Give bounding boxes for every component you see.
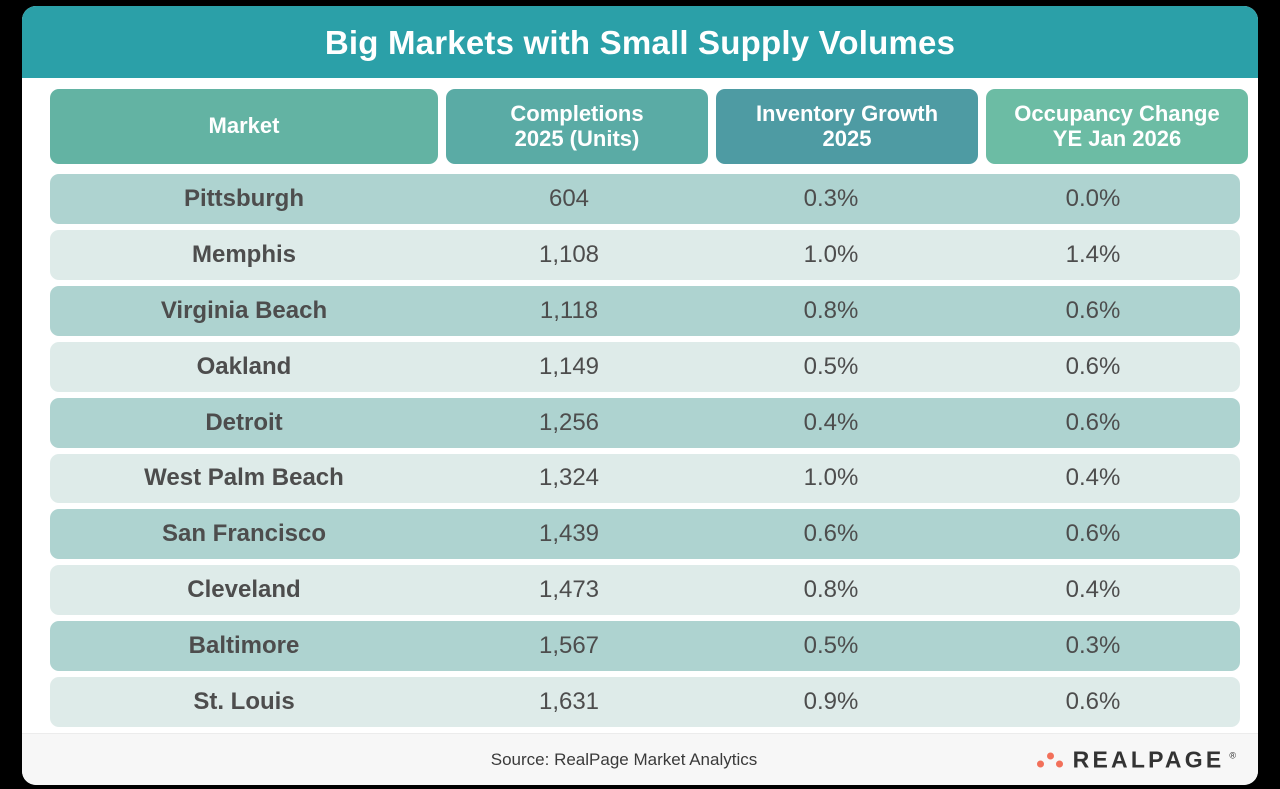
cell-occupancy-change: 0.6% <box>962 342 1224 392</box>
cell-inventory-growth: 1.0% <box>700 230 962 280</box>
cell-occupancy-change: 1.4% <box>962 230 1224 280</box>
cell-completions: 1,149 <box>438 342 700 392</box>
source-attribution: Source: RealPage Market Analytics <box>491 750 757 770</box>
cell-inventory-growth: 0.3% <box>700 174 962 224</box>
registered-trademark-icon: ® <box>1229 750 1236 760</box>
cell-occupancy-change: 0.4% <box>962 565 1224 615</box>
cell-market: St. Louis <box>50 677 438 727</box>
data-table: Market Completions2025 (Units) Inventory… <box>22 78 1258 733</box>
column-header-occupancy-change: Occupancy ChangeYE Jan 2026 <box>986 89 1248 164</box>
cell-completions: 1,118 <box>438 286 700 336</box>
cell-inventory-growth: 0.9% <box>700 677 962 727</box>
cell-market: Cleveland <box>50 565 438 615</box>
realpage-logo: REALPAGE ® <box>1036 746 1236 773</box>
cell-occupancy-change: 0.3% <box>962 621 1224 671</box>
cell-completions: 1,108 <box>438 230 700 280</box>
cell-occupancy-change: 0.6% <box>962 286 1224 336</box>
table-row: Baltimore 1,567 0.5% 0.3% <box>50 621 1240 671</box>
cell-occupancy-change: 0.6% <box>962 398 1224 448</box>
page-title: Big Markets with Small Supply Volumes <box>325 26 955 59</box>
cell-market: Pittsburgh <box>50 174 438 224</box>
cell-completions: 1,473 <box>438 565 700 615</box>
column-header-completions: Completions2025 (Units) <box>446 89 708 164</box>
cell-inventory-growth: 0.8% <box>700 286 962 336</box>
cell-completions: 1,324 <box>438 454 700 504</box>
header-line-2: 2025 (Units) <box>515 126 640 151</box>
cell-completions: 1,439 <box>438 509 700 559</box>
table-row: West Palm Beach 1,324 1.0% 0.4% <box>50 454 1240 504</box>
cell-occupancy-change: 0.6% <box>962 677 1224 727</box>
cell-completions: 1,631 <box>438 677 700 727</box>
cell-inventory-growth: 0.4% <box>700 398 962 448</box>
header-line-1: Occupancy Change <box>1014 101 1219 126</box>
column-header-market: Market <box>50 89 438 164</box>
cell-market: Oakland <box>50 342 438 392</box>
header-line-2: YE Jan 2026 <box>1053 126 1181 151</box>
footer: Source: RealPage Market Analytics REALPA… <box>22 733 1258 785</box>
cell-market: Memphis <box>50 230 438 280</box>
cell-inventory-growth: 1.0% <box>700 454 962 504</box>
cell-inventory-growth: 0.6% <box>700 509 962 559</box>
table-row: Cleveland 1,473 0.8% 0.4% <box>50 565 1240 615</box>
cell-market: Virginia Beach <box>50 286 438 336</box>
cell-completions: 1,567 <box>438 621 700 671</box>
column-header-completions-label: Completions2025 (Units) <box>510 102 643 151</box>
realpage-dots-icon <box>1036 750 1066 770</box>
table-row: San Francisco 1,439 0.6% 0.6% <box>50 509 1240 559</box>
column-header-inventory-growth: Inventory Growth2025 <box>716 89 978 164</box>
column-header-occupancy-change-label: Occupancy ChangeYE Jan 2026 <box>1014 102 1219 151</box>
cell-occupancy-change: 0.4% <box>962 454 1224 504</box>
table-row: Virginia Beach 1,118 0.8% 0.6% <box>50 286 1240 336</box>
cell-market: West Palm Beach <box>50 454 438 504</box>
header-line-2: 2025 <box>823 126 872 151</box>
cell-inventory-growth: 0.5% <box>700 342 962 392</box>
column-header-market-label: Market <box>209 114 280 139</box>
realpage-wordmark: REALPAGE <box>1073 746 1225 773</box>
table-row: Detroit 1,256 0.4% 0.6% <box>50 398 1240 448</box>
cell-completions: 604 <box>438 174 700 224</box>
table-row: St. Louis 1,631 0.9% 0.6% <box>50 677 1240 727</box>
cell-inventory-growth: 0.8% <box>700 565 962 615</box>
table-body: Pittsburgh 604 0.3% 0.0% Memphis 1,108 1… <box>50 174 1240 733</box>
chart-card: Big Markets with Small Supply Volumes Ma… <box>22 6 1258 785</box>
cell-completions: 1,256 <box>438 398 700 448</box>
cell-market: San Francisco <box>50 509 438 559</box>
table-row: Oakland 1,149 0.5% 0.6% <box>50 342 1240 392</box>
title-bar: Big Markets with Small Supply Volumes <box>22 6 1258 78</box>
cell-occupancy-change: 0.0% <box>962 174 1224 224</box>
column-header-inventory-growth-label: Inventory Growth2025 <box>756 102 938 151</box>
cell-occupancy-change: 0.6% <box>962 509 1224 559</box>
table-row: Pittsburgh 604 0.3% 0.0% <box>50 174 1240 224</box>
table-row: Memphis 1,108 1.0% 1.4% <box>50 230 1240 280</box>
header-line-1: Inventory Growth <box>756 101 938 126</box>
table-header-row: Market Completions2025 (Units) Inventory… <box>50 89 1240 164</box>
cell-market: Detroit <box>50 398 438 448</box>
cell-inventory-growth: 0.5% <box>700 621 962 671</box>
cell-market: Baltimore <box>50 621 438 671</box>
header-line-1: Completions <box>510 101 643 126</box>
